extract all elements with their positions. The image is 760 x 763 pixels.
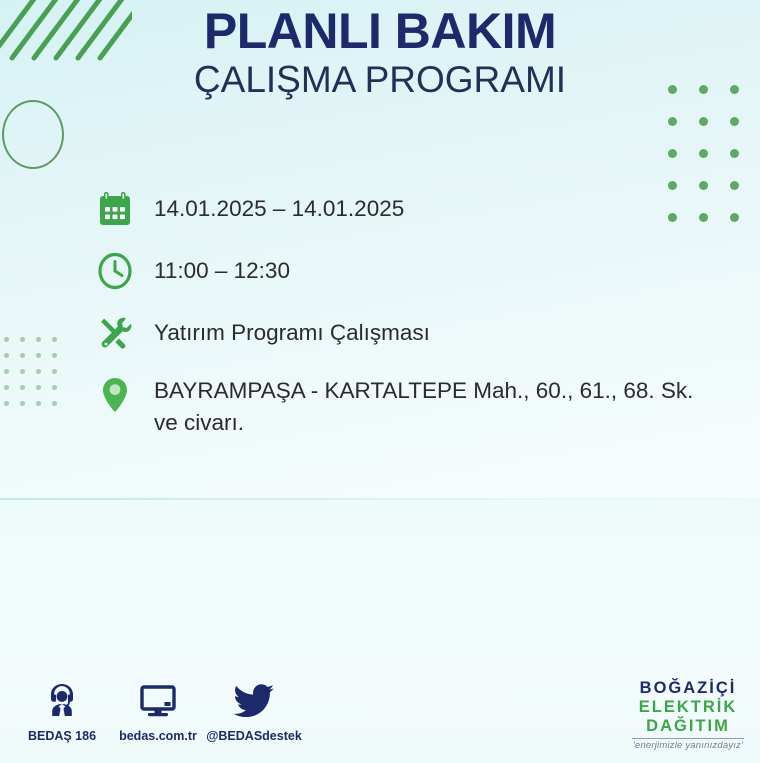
- contact-item-twitter[interactable]: @BEDASdestek: [206, 676, 302, 743]
- contact-label-call-center: BEDAŞ 186: [14, 729, 110, 743]
- page-subtitle: ÇALIŞMA PROGRAMI: [0, 61, 760, 100]
- detail-row-time-text: 11:00 – 12:30: [154, 248, 290, 287]
- contact-label-twitter: @BEDASdestek: [206, 729, 302, 743]
- logo-line-dagitim: DAĞITIM: [624, 717, 752, 736]
- dot-grid-left-decoration: [4, 337, 68, 417]
- page-title: PLANLI BAKIM: [0, 6, 760, 57]
- contact-label-website: bedas.com.tr: [110, 729, 206, 743]
- location-pin-icon: [92, 372, 138, 418]
- logo-line-bogazici: BOĞAZİÇİ: [624, 679, 752, 698]
- social-contact-list: BEDAŞ 186 bedas.com.tr: [14, 676, 302, 743]
- tools-icon: [92, 310, 138, 356]
- planned-maintenance-poster: PLANLI BAKIM ÇALIŞMA PROGRAMI: [0, 0, 760, 763]
- logo-line-elektrik: ELEKTRİK: [624, 698, 752, 717]
- poster-header: PLANLI BAKIM ÇALIŞMA PROGRAMI: [0, 6, 760, 100]
- poster-footer: BEDAŞ 186 bedas.com.tr: [0, 676, 760, 763]
- headset-support-icon: [14, 676, 110, 724]
- bedas-logo: BOĞAZİÇİ ELEKTRİK DAĞITIM 'enerjimizle y…: [624, 679, 752, 751]
- detail-row-location-text: BAYRAMPAŞA - KARTALTEPE Mah., 60., 61., …: [154, 372, 693, 439]
- detail-row-date: 14.01.2025 – 14.01.2025: [92, 186, 732, 232]
- logo-tagline: 'enerjimizle yanınızdayız': [624, 740, 752, 751]
- monitor-website-icon: [110, 676, 206, 724]
- twitter-bird-icon: [206, 676, 302, 724]
- clock-icon: [92, 248, 138, 294]
- detail-row-work-type: Yatırım Programı Çalışması: [92, 310, 732, 356]
- calendar-icon: [92, 186, 138, 232]
- maintenance-details: 14.01.2025 – 14.01.2025 11:00 – 12:30: [92, 186, 732, 455]
- detail-row-location: BAYRAMPAŞA - KARTALTEPE Mah., 60., 61., …: [92, 372, 732, 439]
- contact-item-website[interactable]: bedas.com.tr: [110, 676, 206, 743]
- contact-item-call-center[interactable]: BEDAŞ 186: [14, 676, 110, 743]
- detail-row-date-text: 14.01.2025 – 14.01.2025: [154, 186, 404, 225]
- circle-outline-decoration: [2, 100, 64, 169]
- logo-divider: [632, 738, 744, 739]
- detail-row-time: 11:00 – 12:30: [92, 248, 732, 294]
- detail-row-work-type-text: Yatırım Programı Çalışması: [154, 310, 430, 349]
